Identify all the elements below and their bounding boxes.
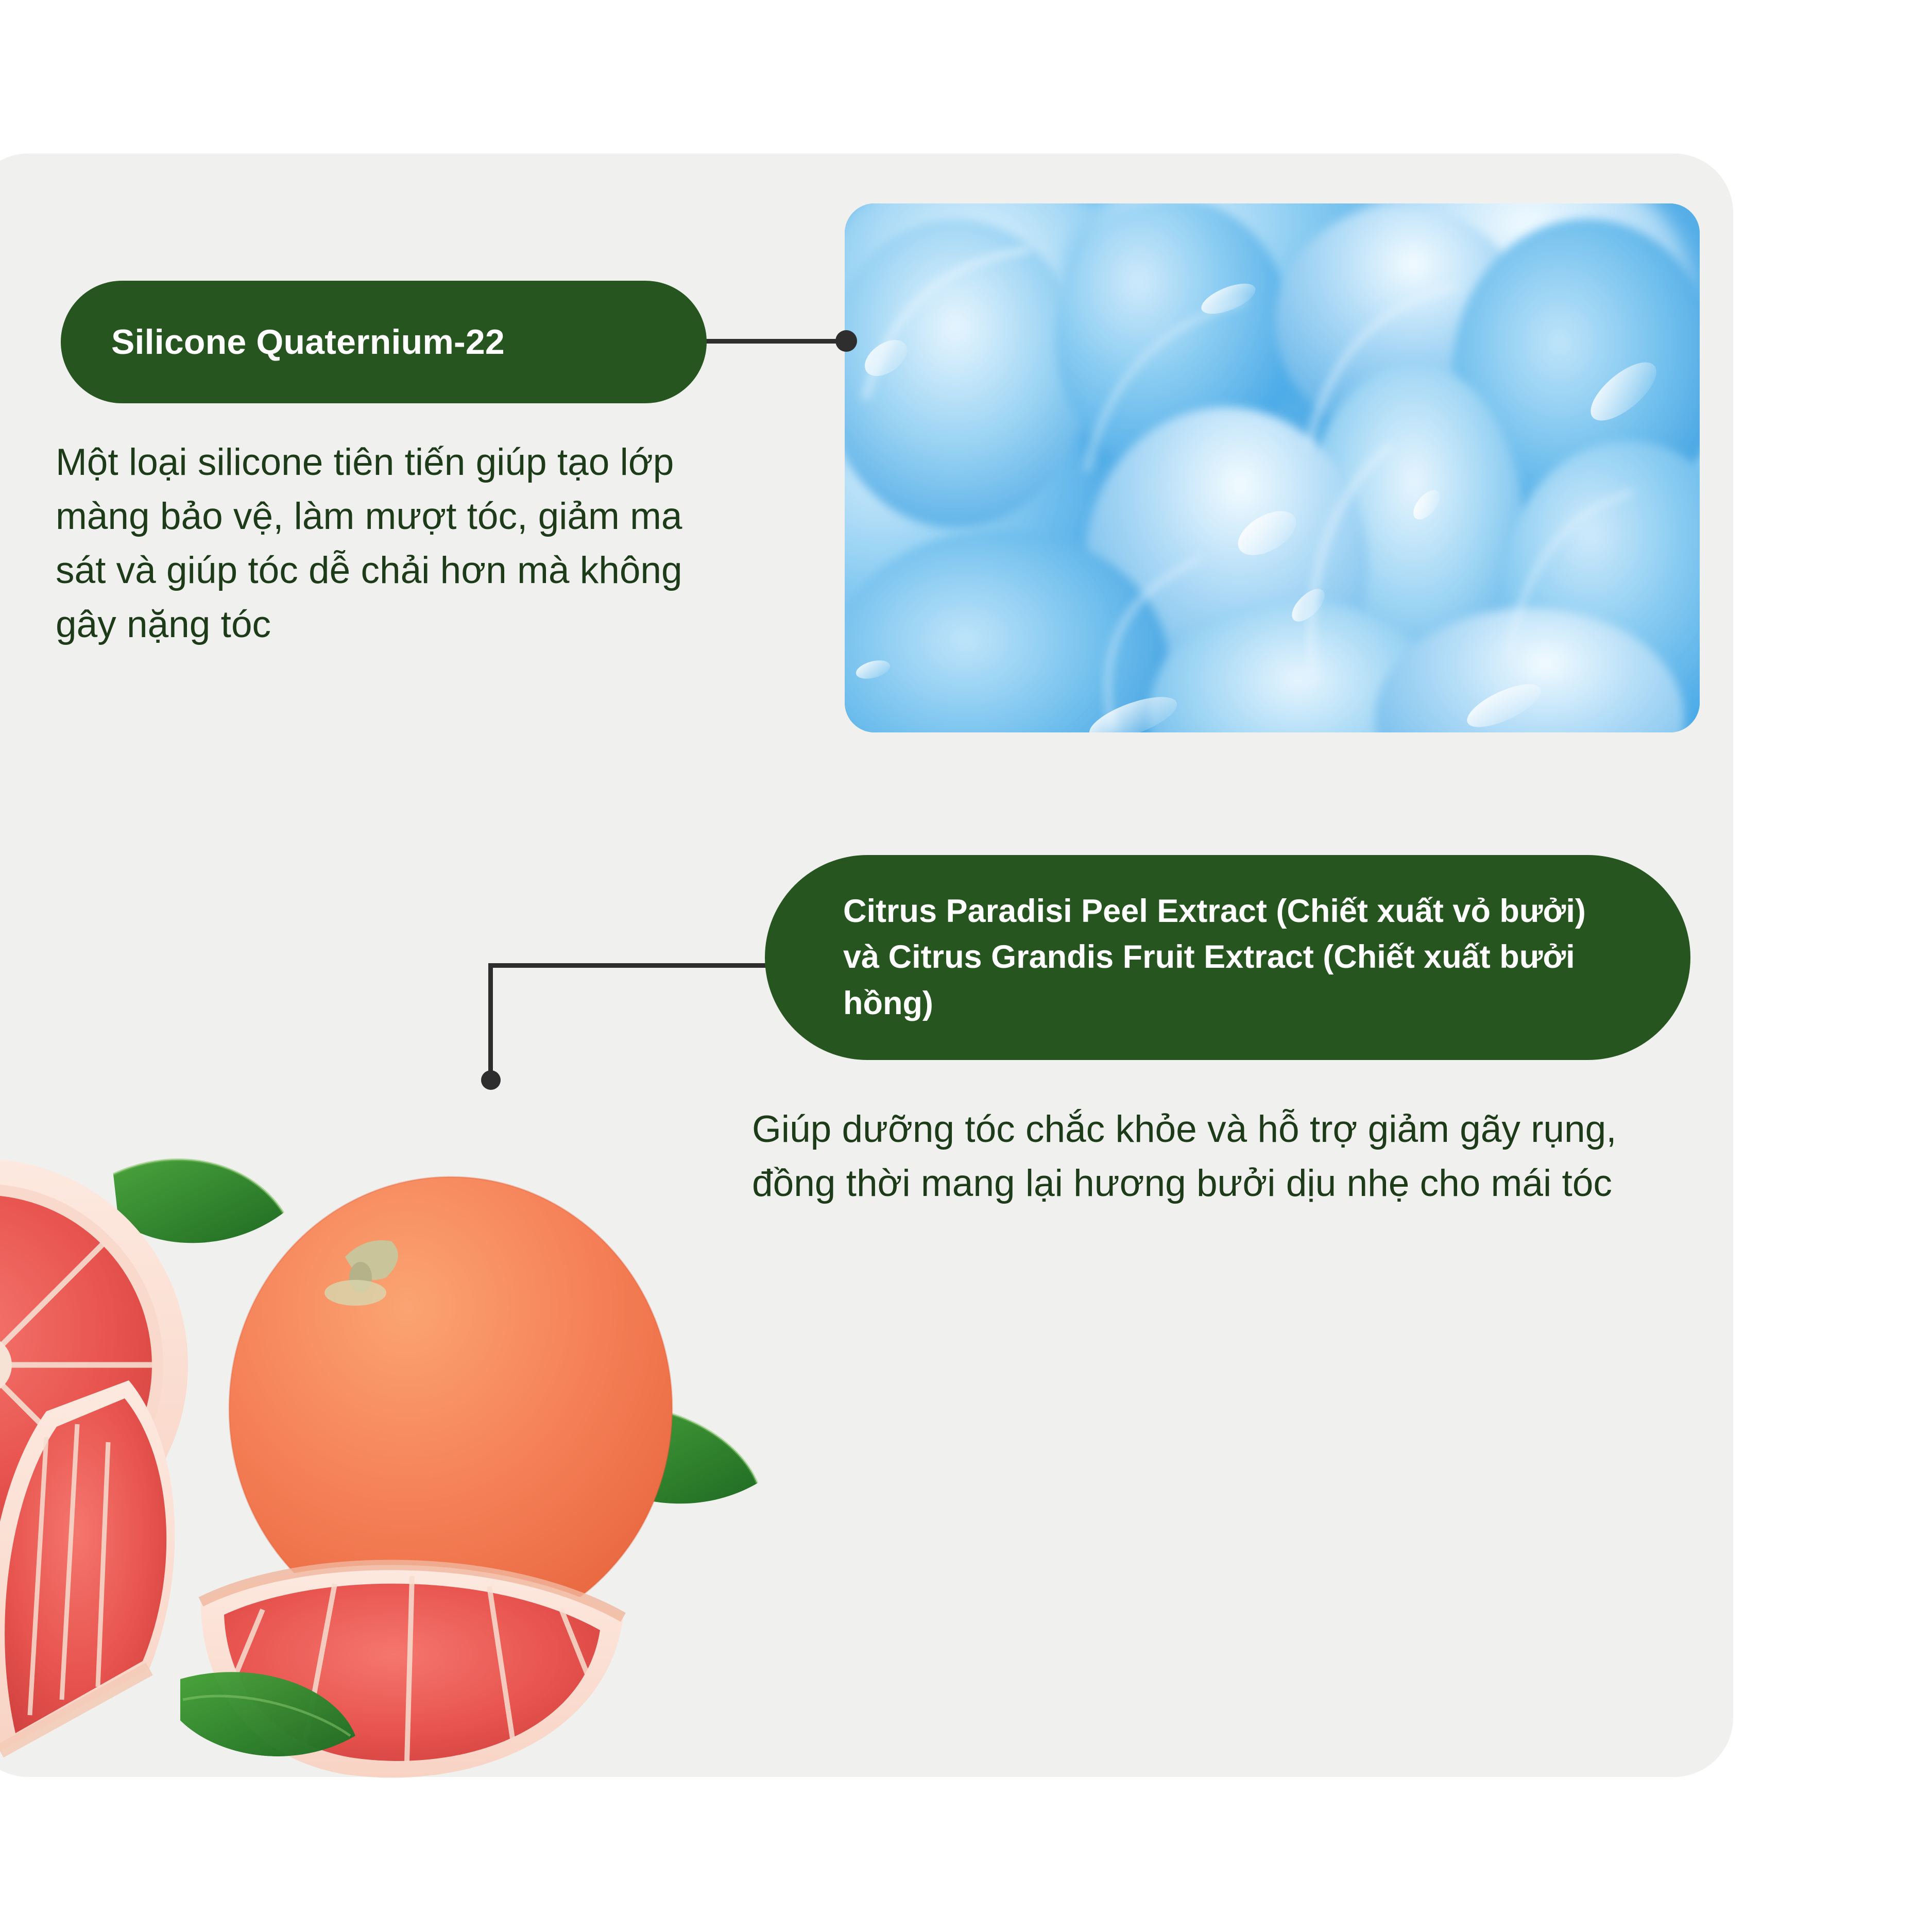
- badge-silicone-quaternium[interactable]: Silicone Quaternium-22: [61, 281, 707, 403]
- citrus-connector-line-vertical: [488, 963, 493, 1080]
- badge-citrus-label: Citrus Paradisi Peel Extract (Chiết xuất…: [843, 888, 1629, 1027]
- gel-bubbles-illustration: [845, 203, 1700, 732]
- silicone-connector-line: [700, 339, 855, 344]
- pink-grapefruit-photo: [0, 1123, 788, 1792]
- blue-gel-bubbles-photo: [845, 203, 1700, 732]
- description-citrus: Giúp dưỡng tóc chắc khỏe và hỗ trợ giảm …: [752, 1102, 1638, 1210]
- grapefruit-illustration: [0, 1123, 788, 1792]
- citrus-connector-line-horizontal: [488, 963, 797, 968]
- description-silicone: Một loại silicone tiên tiến giúp tạo lớp…: [56, 435, 741, 652]
- citrus-connector-dot: [481, 1070, 501, 1090]
- badge-citrus-extract[interactable]: Citrus Paradisi Peel Extract (Chiết xuất…: [765, 855, 1690, 1060]
- silicone-connector-dot: [835, 330, 857, 352]
- badge-silicone-label: Silicone Quaternium-22: [111, 322, 505, 362]
